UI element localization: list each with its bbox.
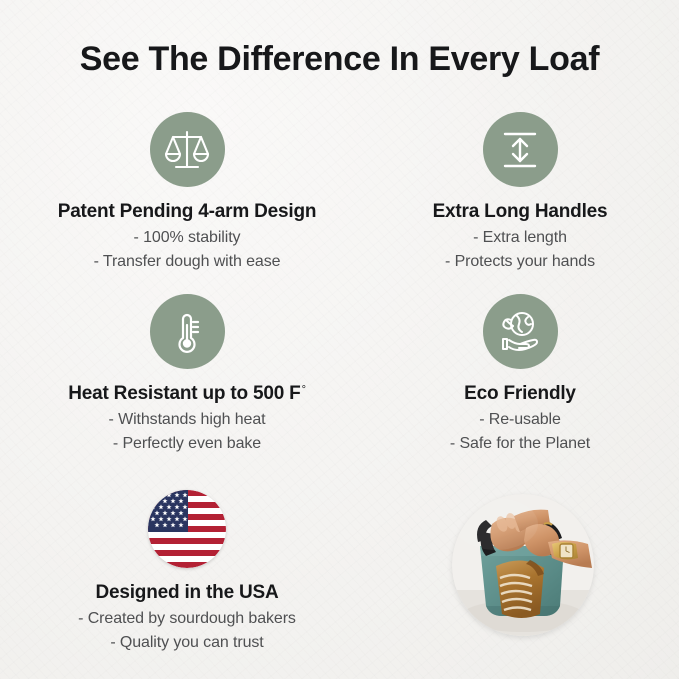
feature-title: Heat Resistant up to 500 F° [22,383,352,405]
feature-patent-pending: Patent Pending 4-arm Design - 100% stabi… [22,112,352,271]
feature-title: Patent Pending 4-arm Design [22,201,352,223]
feature-line: - Extra length [355,229,679,247]
feature-line: - Protects your hands [355,253,679,271]
feature-line: - Perfectly even bake [22,435,352,453]
feature-line: - 100% stability [22,229,352,247]
vertical-double-arrow-icon [483,112,558,187]
feature-line: - Re-usable [355,411,679,429]
thermometer-icon [150,294,225,369]
degree-symbol: ° [302,384,306,396]
feature-designed-in-usa: Designed in the USA - Created by sourdou… [22,490,352,652]
feature-title: Eco Friendly [355,383,679,405]
infographic-page: See The Difference In Every Loaf Patent … [0,0,679,679]
feature-line: - Quality you can trust [22,634,352,652]
page-title: See The Difference In Every Loaf [0,40,679,79]
feature-heat-resistant: Heat Resistant up to 500 F° - Withstands… [22,294,352,453]
feature-title: Designed in the USA [22,582,352,604]
feature-line: - Safe for the Planet [355,435,679,453]
feature-eco-friendly: Eco Friendly - Re-usable - Safe for the … [355,294,679,453]
product-photo [452,494,594,636]
feature-title-text: Heat Resistant up to 500 F [68,383,300,404]
usa-flag-icon [148,490,226,568]
feature-line: - Withstands high heat [22,411,352,429]
hand-holding-globe-icon [483,294,558,369]
feature-extra-long-handles: Extra Long Handles - Extra length - Prot… [355,112,679,271]
feature-title: Extra Long Handles [355,201,679,223]
balance-scale-icon [150,112,225,187]
feature-line: - Transfer dough with ease [22,253,352,271]
feature-line: - Created by sourdough bakers [22,610,352,628]
